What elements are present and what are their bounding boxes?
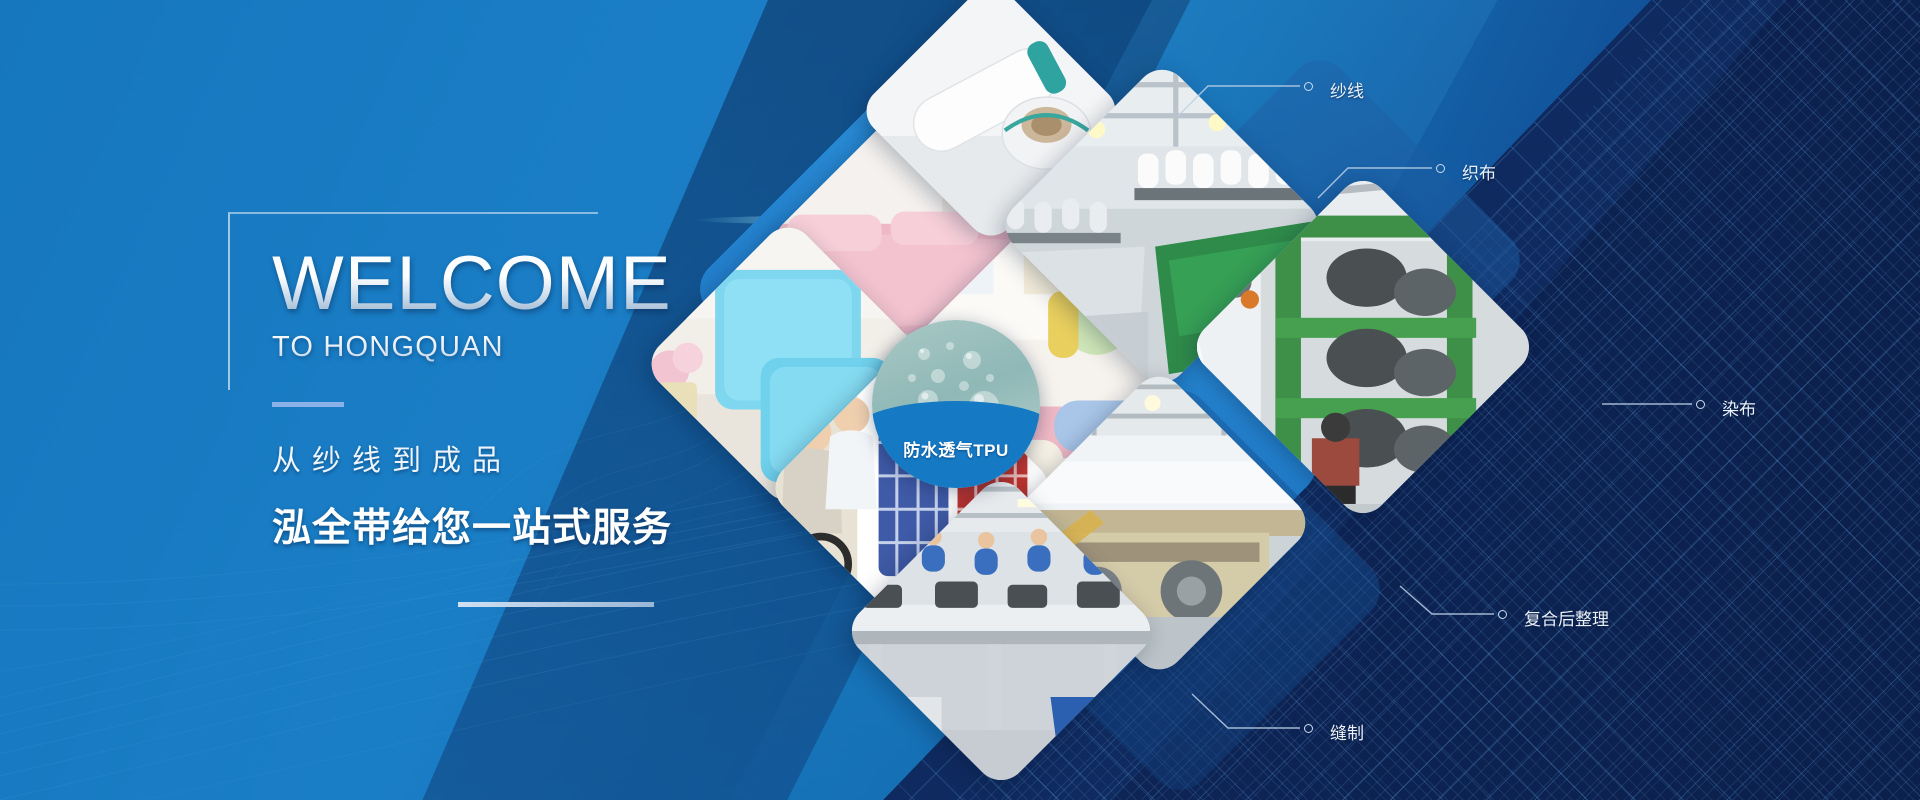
accent-rule-short <box>272 402 344 407</box>
callout-label-dyeing: 染布 <box>1722 395 1756 420</box>
callout-lamination: 复合后整理 <box>1398 578 1798 638</box>
callout-yarn: 纱线 <box>1172 60 1532 120</box>
badge-label: 防水透气TPU <box>872 436 1040 461</box>
callout-label-yarn: 纱线 <box>1330 77 1364 102</box>
feature-badge: 防水透气TPU <box>872 320 1040 488</box>
callout-weaving: 织布 <box>1312 140 1672 200</box>
callout-label-lamination: 复合后整理 <box>1524 605 1609 630</box>
callout-dot-weaving <box>1436 164 1445 173</box>
accent-rule-long <box>458 602 654 607</box>
callout-dot-dyeing <box>1696 400 1705 409</box>
callout-dot-lamination <box>1498 610 1507 619</box>
callout-label-sewing: 缝制 <box>1330 719 1364 744</box>
callout-sewing: 缝制 <box>1190 690 1550 750</box>
leader-line-sewing-icon <box>1190 690 1350 750</box>
callout-dot-yarn <box>1304 82 1313 91</box>
leader-line-lamination-icon <box>1398 578 1538 638</box>
callout-dyeing: 染布 <box>1600 382 1920 422</box>
hero-banner: WELCOME TO HONGQUAN 从纱线到成品 泓全带给您一站式服务 <box>0 0 1920 800</box>
callout-dot-sewing <box>1304 724 1313 733</box>
callout-label-weaving: 织布 <box>1462 159 1496 184</box>
